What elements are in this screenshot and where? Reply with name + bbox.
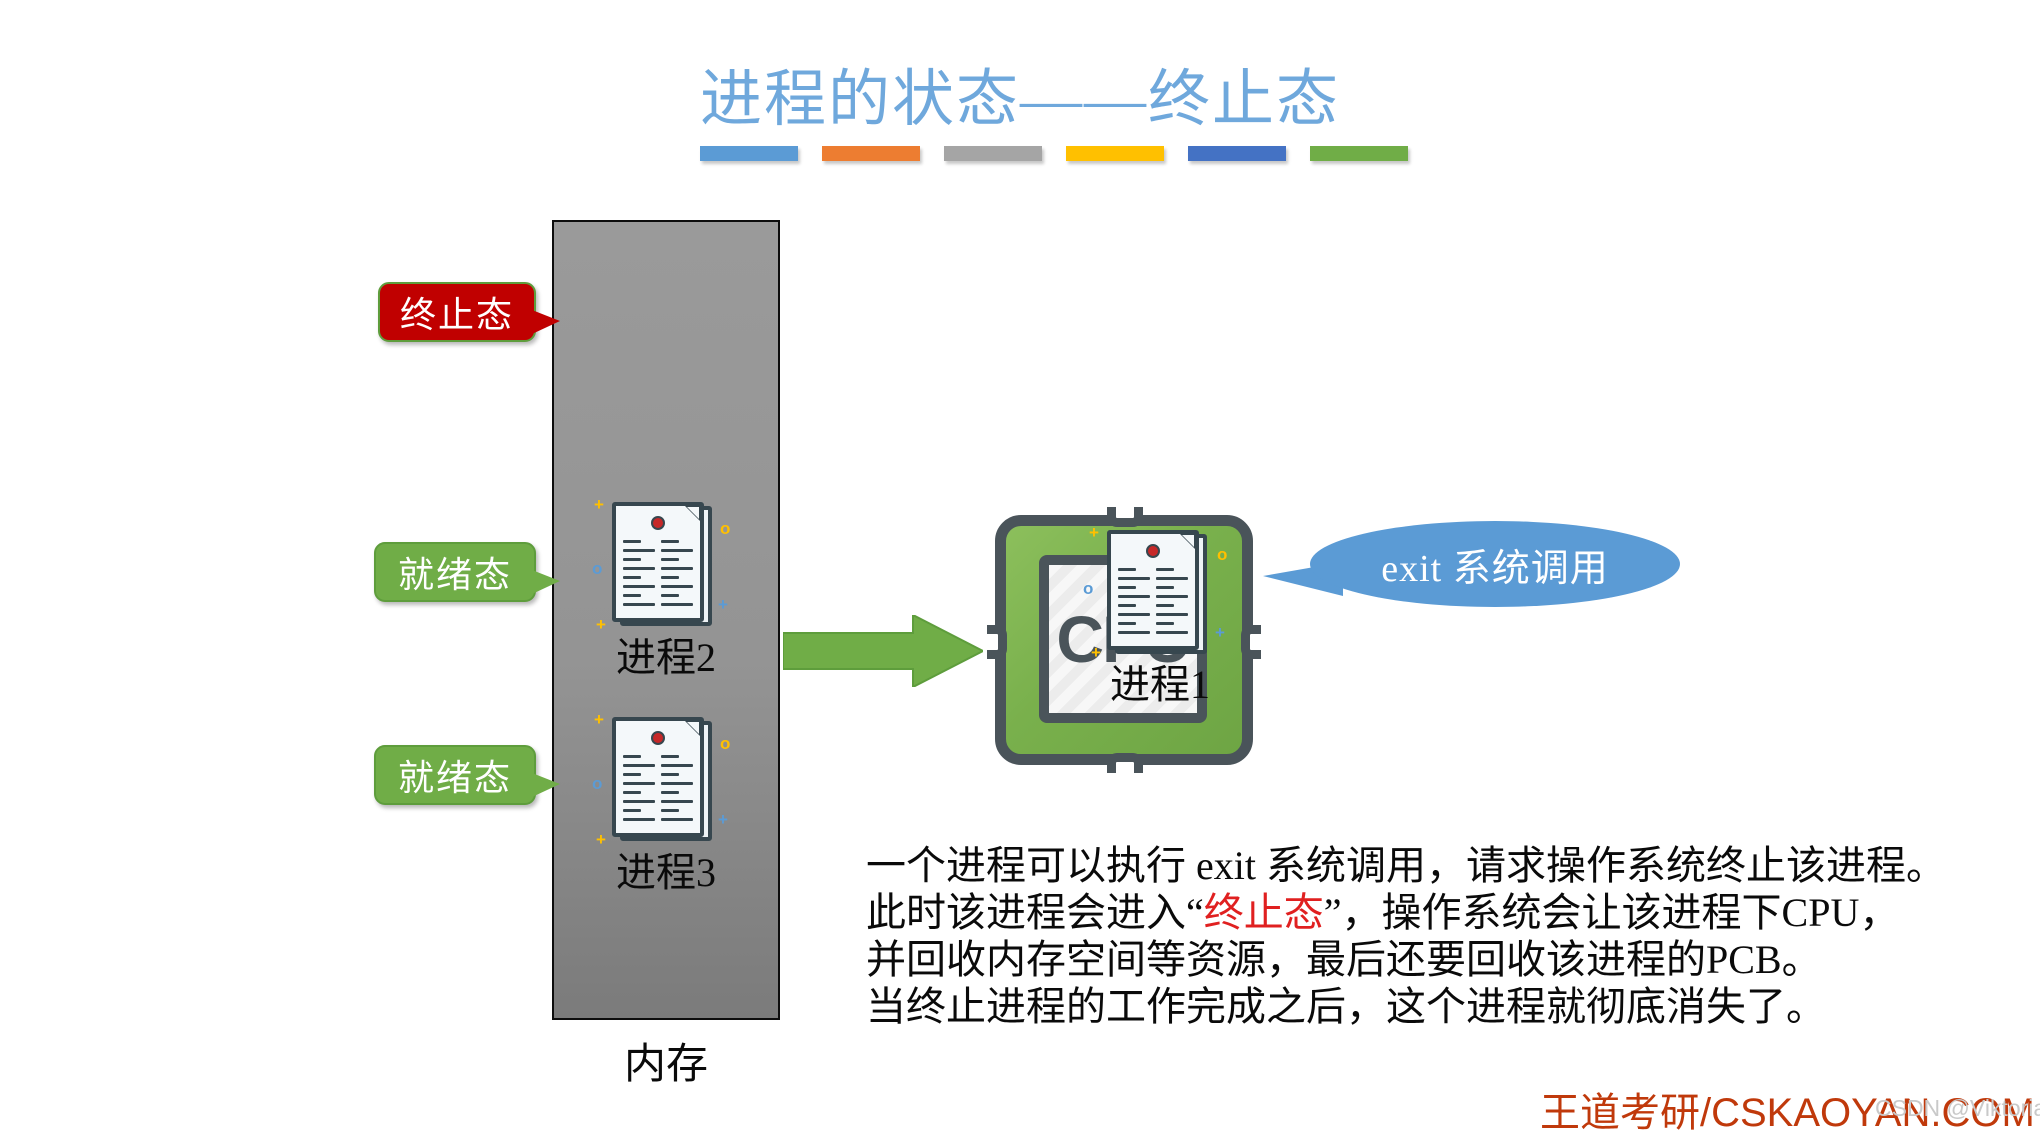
process-label-p1: 进程1 — [1050, 652, 1270, 710]
explanation-line-2: 此时该进程会进入“终止态”，操作系统会让该进程下CPU， — [866, 889, 1966, 936]
document-column-left — [623, 540, 655, 612]
callout-ready-state-1: 就绪态 — [374, 542, 536, 602]
page-fold-inner — [1182, 535, 1194, 547]
document-text-lines — [623, 755, 693, 827]
document-text-lines — [623, 540, 693, 612]
document-front-sheet — [612, 502, 704, 622]
sparkle-circle-icon: o — [720, 520, 730, 537]
explanation-highlight-terminated: 终止态 — [1204, 890, 1324, 935]
explanation-line-4: 当终止进程的工作完成之后，这个进程就彻底消失了。 — [866, 983, 1966, 1030]
sparkle-circle-icon: o — [592, 775, 602, 792]
page-fold-inner — [687, 722, 699, 734]
memory-label: 内存 — [552, 1030, 780, 1091]
cpu-notch-bottom — [1107, 753, 1143, 773]
callout-tip — [532, 773, 560, 797]
process-document-icon-p2: + o + o + — [610, 500, 716, 628]
cpu-notch-left — [987, 625, 1007, 659]
callout-ready-label-1: 就绪态 — [398, 546, 512, 598]
document-column-right — [661, 755, 693, 827]
slide-canvas: 进程的状态——终止态 内存 终止态 就绪态 就绪态 + o + o + — [0, 0, 2040, 1140]
speech-bubble-text: exit 系统调用 — [1381, 537, 1608, 592]
document-text-lines — [1118, 568, 1188, 640]
sparkle-plus-icon: + — [1089, 524, 1099, 541]
callout-terminated-state: 终止态 — [378, 282, 536, 342]
sparkle-circle-icon: o — [1217, 546, 1227, 563]
process-document-icon-p1: + o + o + — [1105, 528, 1211, 656]
document-column-left — [623, 755, 655, 827]
process-label-p2: 进程2 — [560, 625, 772, 683]
accent-bar-yellow — [1066, 146, 1164, 161]
explanation-line-3: 并回收内存空间等资源，最后还要回收该进程的PCB。 — [866, 936, 1966, 983]
callout-ready-label-2: 就绪态 — [398, 749, 512, 801]
flow-arrow-icon — [783, 615, 983, 687]
explanation-line-1-text: 一个进程可以执行 exit 系统调用，请求操作系统终止该进程。 — [866, 843, 1946, 888]
document-column-left — [1118, 568, 1150, 640]
document-front-sheet — [1107, 530, 1199, 650]
accent-bar-navy — [1188, 146, 1286, 161]
document-status-dot — [651, 731, 665, 745]
sparkle-plus-icon: + — [718, 811, 728, 828]
sparkle-circle-icon: o — [720, 735, 730, 752]
document-column-right — [661, 540, 693, 612]
callout-terminated-label: 终止态 — [400, 286, 514, 338]
document-front-sheet — [612, 717, 704, 837]
document-status-dot — [1146, 544, 1160, 558]
accent-bar-blue — [700, 146, 798, 161]
explanation-line-2-suffix: ”，操作系统会让该进程下CPU， — [1324, 890, 1900, 935]
sparkle-plus-icon: + — [594, 711, 604, 728]
speech-bubble-exit-syscall: exit 系统调用 — [1310, 521, 1680, 607]
sparkle-circle-icon: o — [592, 560, 602, 577]
callout-tip — [532, 310, 560, 334]
explanation-line-2-prefix: 此时该进程会进入“ — [866, 890, 1204, 935]
explanation-line-1: 一个进程可以执行 exit 系统调用，请求操作系统终止该进程。 — [866, 842, 1966, 889]
document-status-dot — [651, 516, 665, 530]
title-accent-bars — [700, 146, 1408, 161]
process-label-p3: 进程3 — [560, 840, 772, 898]
document-column-right — [1156, 568, 1188, 640]
sparkle-plus-icon: + — [1215, 624, 1225, 641]
explanation-line-3-text: 并回收内存空间等资源，最后还要回收该进程的PCB。 — [866, 937, 1822, 982]
accent-bar-orange — [822, 146, 920, 161]
sparkle-plus-icon: + — [594, 496, 604, 513]
sparkle-plus-icon: + — [718, 596, 728, 613]
page-title: 进程的状态——终止态 — [0, 48, 2040, 138]
sparkle-circle-icon: o — [1083, 580, 1093, 597]
explanation-line-4-text: 当终止进程的工作完成之后，这个进程就彻底消失了。 — [866, 984, 1826, 1029]
page-fold-inner — [687, 507, 699, 519]
explanation-paragraph: 一个进程可以执行 exit 系统调用，请求操作系统终止该进程。 此时该进程会进入… — [866, 842, 1966, 1030]
accent-bar-green — [1310, 146, 1408, 161]
callout-ready-state-2: 就绪态 — [374, 745, 536, 805]
accent-bar-gray — [944, 146, 1042, 161]
cpu-notch-top — [1107, 507, 1143, 527]
footer-watermark: CSDN @Viktoriae — [1875, 1095, 2040, 1122]
process-document-icon-p3: + o + o + — [610, 715, 716, 843]
callout-tip — [532, 570, 560, 594]
